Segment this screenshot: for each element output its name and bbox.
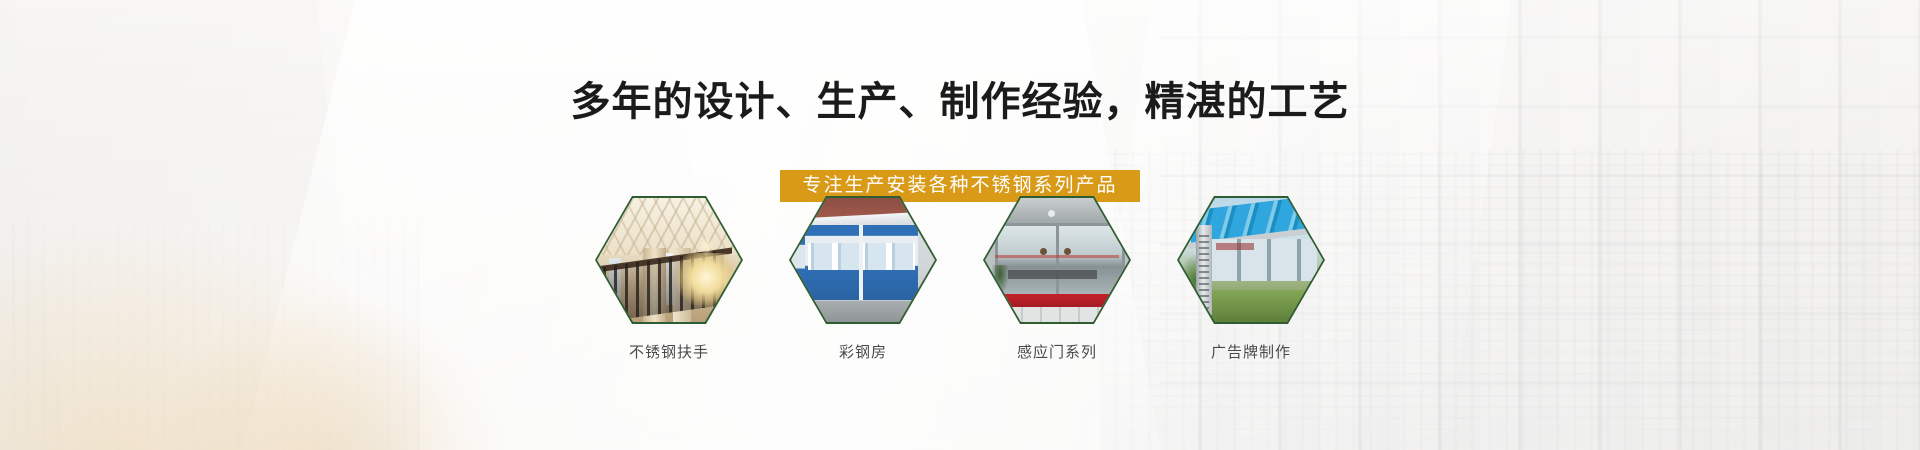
product-label: 彩钢房 <box>839 341 887 362</box>
hexagon-image-clip <box>597 198 741 322</box>
hexagon-image-clip <box>791 198 935 322</box>
product-item-color-steel-house[interactable]: 彩钢房 <box>768 196 958 362</box>
hexagon-image-clip <box>1179 198 1323 322</box>
product-label: 不锈钢扶手 <box>629 341 709 362</box>
product-label: 感应门系列 <box>1017 341 1097 362</box>
product-hexagon-row: 不锈钢扶手 彩钢房 <box>0 196 1920 446</box>
hexagon-frame[interactable] <box>983 196 1131 324</box>
interior-handrail-chandelier-image <box>597 198 741 322</box>
hexagon-frame[interactable] <box>1177 196 1325 324</box>
outdoor-billboard-sign-image <box>1179 198 1323 322</box>
hexagon-frame[interactable] <box>595 196 743 324</box>
product-item-billboard[interactable]: 广告牌制作 <box>1156 196 1346 362</box>
hexagon-image-clip <box>985 198 1129 322</box>
promo-banner: 多年的设计、生产、制作经验，精湛的工艺 专注生产安装各种不锈钢系列产品 不锈钢扶… <box>0 0 1920 450</box>
hexagon-frame[interactable] <box>789 196 937 324</box>
automatic-sensor-glass-door-image <box>985 198 1129 322</box>
blue-white-steel-cabin-image <box>791 198 935 322</box>
product-label: 广告牌制作 <box>1211 341 1291 362</box>
product-item-sensor-door[interactable]: 感应门系列 <box>962 196 1152 362</box>
banner-content: 多年的设计、生产、制作经验，精湛的工艺 专注生产安装各种不锈钢系列产品 不锈钢扶… <box>0 0 1920 450</box>
product-item-stainless-handrail[interactable]: 不锈钢扶手 <box>574 196 764 362</box>
banner-headline: 多年的设计、生产、制作经验，精湛的工艺 <box>0 78 1920 126</box>
